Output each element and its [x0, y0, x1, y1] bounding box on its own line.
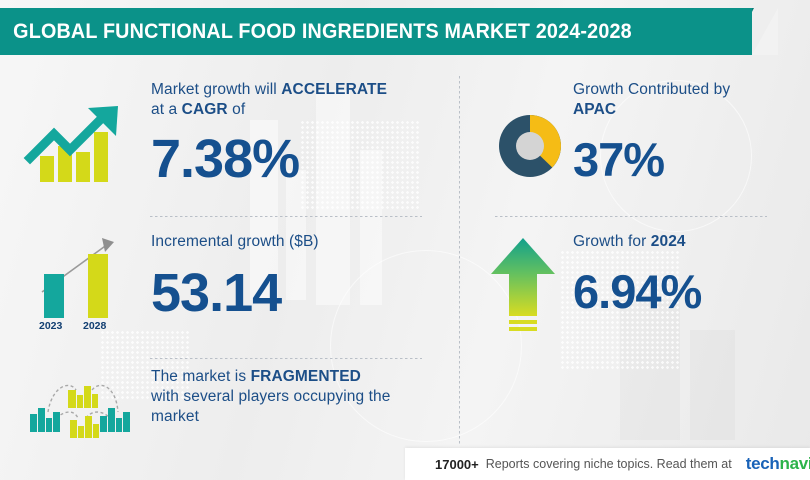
technavio-wordmark: technavio — [746, 454, 810, 474]
fragmented-market-label: The market is FRAGMENTED with several pl… — [151, 367, 390, 427]
incremental-growth-value: 53.14 — [151, 266, 319, 320]
technavio-logo[interactable]: technavio — [744, 454, 810, 474]
apac-label-bold: APAC — [573, 101, 616, 118]
incremental-growth-label: Incremental growth ($B) — [151, 232, 319, 252]
cagr-line1-prefix: Market growth will — [151, 81, 281, 98]
header-banner: GLOBAL FUNCTIONAL FOOD INGREDIENTS MARKE… — [0, 8, 752, 55]
incremental-growth-cell: Incremental growth ($B) 53.14 — [151, 232, 319, 320]
growth-2024-cell: Growth for 2024 6.94% — [573, 232, 701, 315]
bar-label-2028: 2028 — [83, 320, 106, 332]
two-bar-chart-icon: 2023 2028 — [22, 234, 132, 339]
growth-2024-label: Growth for 2024 — [573, 232, 701, 252]
cagr-line2-suffix: of — [228, 101, 246, 118]
up-arrow-icon — [487, 234, 559, 339]
frag-line3: market — [151, 408, 199, 425]
growth-2024-value: 6.94% — [573, 268, 701, 315]
frag-line1-bold: FRAGMENTED — [251, 368, 361, 385]
cagr-label: Market growth will ACCELERATE at a CAGR … — [151, 80, 387, 120]
frag-line1-prefix: The market is — [151, 368, 251, 385]
infographic-canvas: GLOBAL FUNCTIONAL FOOD INGREDIENTS MARKE… — [0, 0, 810, 480]
left-divider-1 — [150, 216, 422, 217]
donut-chart-icon — [492, 108, 568, 189]
cagr-cell: Market growth will ACCELERATE at a CAGR … — [151, 80, 387, 186]
growth-2024-prefix: Growth for — [573, 233, 651, 250]
bar-label-2023: 2023 — [39, 320, 62, 332]
footer-tagline: Reports covering niche topics. Read them… — [486, 457, 732, 471]
growth-2024-bold: 2024 — [651, 233, 686, 250]
apac-label-prefix: Growth Contributed by — [573, 81, 730, 98]
cagr-line2-bold: CAGR — [182, 101, 228, 118]
page-title: GLOBAL FUNCTIONAL FOOD INGREDIENTS MARKE… — [0, 20, 632, 44]
content-area: Market growth will ACCELERATE at a CAGR … — [0, 62, 810, 440]
reports-count: 17000+ — [435, 457, 479, 472]
right-divider-1 — [495, 216, 767, 217]
header-corner-cut — [752, 8, 778, 55]
column-divider — [459, 76, 460, 444]
fragmented-market-cell: The market is FRAGMENTED with several pl… — [151, 367, 390, 427]
logo-text-tech: tech — [746, 454, 780, 473]
apac-value: 37% — [573, 136, 730, 183]
cagr-line2-prefix: at a — [151, 101, 182, 118]
growth-arrow-bars-icon — [22, 100, 132, 191]
apac-growth-cell: Growth Contributed by APAC 37% — [573, 80, 730, 183]
cagr-line1-bold: ACCELERATE — [281, 81, 387, 98]
cagr-value: 7.38% — [151, 132, 387, 186]
footer-bar: 17000+ Reports covering niche topics. Re… — [405, 448, 810, 480]
left-divider-2 — [150, 358, 422, 359]
logo-text-navio: navio — [779, 454, 810, 473]
market-network-icon — [22, 370, 134, 451]
apac-label: Growth Contributed by APAC — [573, 80, 730, 120]
frag-line2: with several players occupying the — [151, 388, 390, 405]
